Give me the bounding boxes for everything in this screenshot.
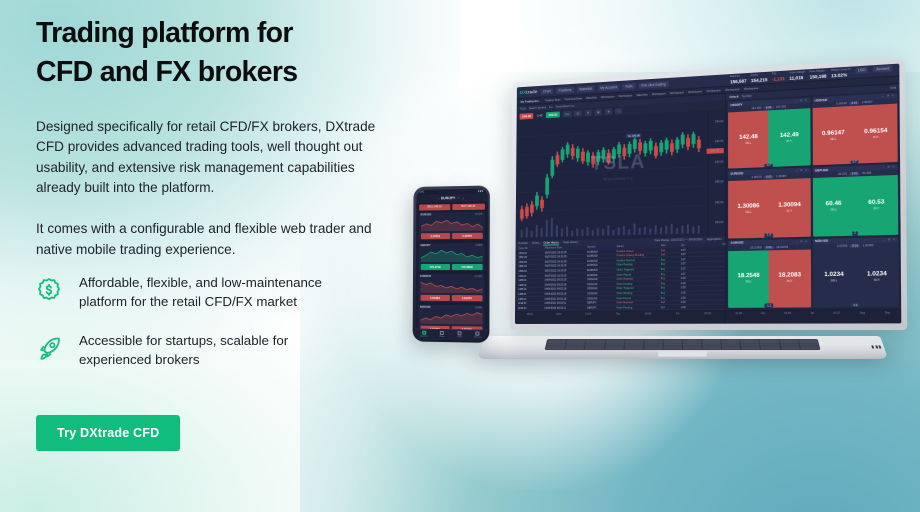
chart-symbol-chip[interactable]: TSLA (520, 107, 526, 110)
tile-ask-label: 0.96157 (862, 101, 873, 105)
list-item[interactable]: NZDUSD-0.04%0.612040.61219 (418, 304, 484, 329)
tile-prices: 18.2548SELL18.2083BUY1.2 (728, 249, 810, 308)
timeframe-button[interactable]: 1m (562, 110, 571, 116)
tile-prices: 1.30086SELL1.30094BUY1.0 (728, 178, 810, 238)
tile-buy-half[interactable]: 18.2083BUY (769, 249, 811, 307)
tile-bid-label: 1.30079 (751, 176, 761, 180)
tile-actions[interactable]: ⌄ ⚙ ✕ (883, 238, 896, 242)
tile-qty: 0.01 (764, 106, 774, 110)
trading-platform-screen: DXtrade Chart Positions Watchlist My Acc… (515, 64, 901, 324)
workspace-tab[interactable]: Workspace (688, 90, 702, 94)
card-quotes: 1.107311.10757 (420, 232, 482, 238)
workspace-tab[interactable]: Workspace (744, 86, 759, 90)
card-symbol: GBPJPY (420, 244, 430, 247)
feature-label: Affordable, flexible, and low-maintenanc… (79, 272, 362, 312)
status-time: 9:41 (420, 190, 425, 193)
laptop-mockup: DXtrade Chart Positions Watchlist My Acc… (485, 80, 880, 380)
metric-margin-level: Margin Level % 13.02% (831, 68, 851, 78)
phone-sell-button[interactable]: SELL 148.12 (419, 204, 451, 210)
tile-ask-label: 18.22036 (776, 245, 788, 248)
tab-portfolio[interactable]: Portfolio (519, 242, 528, 245)
laptop-lid: DXtrade Chart Positions Watchlist My Acc… (510, 58, 907, 330)
tile-actions[interactable]: ⌄ ⚙ ✕ (795, 99, 807, 103)
tile-spread: 1.0 (765, 233, 773, 237)
more-icon[interactable]: ⋮ (462, 195, 465, 199)
metric-balance: Balance 156,587 (730, 75, 746, 84)
card-buy-button[interactable]: 172.0802 (452, 263, 482, 269)
candlestick-series (516, 110, 725, 241)
workspace-tab[interactable]: Technical Rate (564, 97, 582, 101)
tile-sell-half[interactable]: 0.96147SELL (812, 106, 854, 166)
card-quotes: 1.613631.61375 (420, 294, 482, 301)
headline-line-2: CFD and FX brokers (36, 56, 297, 88)
watchlist-tab[interactable]: Default (729, 95, 738, 99)
sparkline-chart (421, 216, 483, 232)
hero-paragraph-2: It comes with a configurable and flexibl… (36, 219, 384, 260)
tile-ask-label: 1.02384 (863, 244, 874, 247)
card-quotes: 172.0742172.0802 (420, 263, 482, 269)
card-change: -0.08% (475, 244, 482, 246)
timeline-left-ticks: 08:00 Wed 12:00 Thu 18:00 Fri 00:30 (515, 312, 724, 316)
last-price-badge: 289.42 (706, 147, 723, 153)
hero-paragraph-1: Designed specifically for retail CFD/FX … (36, 117, 392, 200)
back-icon[interactable]: ‹ (438, 196, 439, 200)
device-mockup: DXtrade Chart Positions Watchlist My Acc… (390, 60, 920, 400)
platform-body: TSLA Search Symbol 1m Tesla Motors Inc 1… (515, 84, 901, 324)
account-menu[interactable]: My Account (598, 83, 620, 90)
workspace-tab[interactable]: Workspace (670, 91, 684, 95)
date-range-filter[interactable]: Date Range: 10/23/2021 — 06/15/2022 (655, 238, 703, 242)
tile-spread: 0.7 (850, 160, 859, 164)
phone-bottom-nav: Watchlist Charts Orders Account (415, 328, 487, 340)
status-indicators: ▮▮▮ (478, 189, 483, 192)
workspace-tab[interactable]: Watchlist (636, 93, 647, 97)
timeline-left: 08:00 Wed 12:00 Thu 18:00 Fri 00:30 (515, 311, 725, 324)
price-axis: 294.00 292.00 290.00 288.00 286.00 284.0… (708, 110, 725, 237)
tile-ask-label: 1.30084 (776, 175, 786, 179)
quote-tile[interactable]: EURUSD⌄ ⚙ ✕1.300790.011.300841.30086SELL… (728, 168, 810, 238)
sparkline-chart (420, 247, 482, 262)
try-dxtrade-cfd-button[interactable]: Try DXtrade CFD (36, 415, 180, 451)
aggregation-toggle[interactable]: Aggregation (707, 238, 722, 241)
watchlist-grid-toggle[interactable]: Grid (890, 86, 896, 90)
cta-label: Try DXtrade CFD (57, 426, 159, 440)
phone-nav-account[interactable]: Account (469, 331, 487, 338)
tile-sell-half[interactable]: 1.0234SELL (813, 248, 856, 307)
laptop-keyboard (545, 339, 820, 350)
workspace-tab[interactable]: Workspace (619, 94, 633, 98)
candlestick-chart[interactable]: TSLA Tesla Motors Inc SL 289.86 294.00 2… (516, 110, 725, 241)
orders-table-body: 1536.2206/07/2022 16:31:05EURUSDPosition… (515, 247, 725, 311)
rocket-icon (32, 332, 66, 366)
sparkline-chart (420, 278, 482, 293)
tile-spread: 2 (852, 231, 858, 235)
tile-bid-label: 60.201 (838, 173, 847, 177)
chart-search[interactable]: Search Symbol (529, 106, 546, 110)
nav-chip-positions[interactable]: Positions (556, 86, 574, 93)
tile-spread: 1.2 (765, 304, 773, 308)
chart-timeline: 08:00 Wed 12:00 Thu 18:00 Fri 00:30 (515, 310, 725, 324)
metric-used-margin: Used Margin 11,015 (789, 71, 805, 81)
tile-ask-label: 60.486 (862, 172, 871, 176)
quote-tile[interactable]: NZDUSD⌄ ⚙ ✕1.023060.011.023841.0234SELL1… (813, 237, 899, 308)
tile-actions[interactable]: ⌄ ⚙ ✕ (795, 169, 807, 173)
account-selector[interactable]: Account (873, 66, 892, 74)
tile-prices: 0.96147SELL0.96154BUY0.7 (812, 104, 898, 166)
watchlist-panel: Default Symbol Grid USDJPY⌄ ⚙ ✕141.4800.… (726, 84, 901, 324)
tile-actions[interactable]: ⌄ ⚙ ✕ (882, 94, 895, 98)
chart-icon (440, 331, 444, 335)
quote-tile[interactable]: GBPUSD⌄ ⚙ ✕60.2010.0160.48660.46SELL60.5… (812, 164, 898, 236)
tile-spread: 0.7 (765, 163, 773, 167)
watchlist-search[interactable]: Symbol (742, 94, 752, 98)
tab-trade-history[interactable]: Trade History (563, 241, 579, 244)
gear-dollar-icon (32, 274, 66, 308)
dxtrade-logo: DXtrade (520, 89, 538, 95)
card-change: +0.12% (475, 213, 483, 215)
chart-timeframe[interactable]: 1m (549, 105, 553, 108)
drawing-icon[interactable]: ✎ (584, 109, 592, 115)
tab-order-history[interactable]: Order History (543, 241, 558, 245)
tile-sell-half[interactable]: 18.2548SELL (728, 250, 769, 308)
list-item[interactable]: EURAUD+0.31%1.613631.61375 (418, 273, 484, 302)
tile-buy-half[interactable]: 0.96154BUY (854, 104, 897, 164)
card-sell-button[interactable]: 1.10731 (420, 233, 450, 239)
page-title: Trading platform for CFD and FX brokers (36, 14, 416, 92)
hero-copy: Trading platform for CFD and FX brokers … (36, 14, 416, 260)
watchlist-timeline: 11:06 Jun 15:38 Jul 10:27 Aug Sep (726, 309, 901, 324)
tile-qty: 0.01 (764, 176, 774, 180)
tab-orders[interactable]: Orders (532, 242, 540, 245)
tile-prices: 142.48SELL142.49BUY0.7 (728, 108, 810, 169)
indicators-icon[interactable]: ◫ (574, 110, 582, 116)
card-symbol: NZDUSD (420, 306, 431, 309)
crosshair-icon[interactable]: ✛ (605, 108, 613, 114)
watchlist-icon (422, 331, 426, 335)
nav-chip-chart[interactable]: Chart (540, 88, 553, 95)
workspace-tab[interactable]: My Trading Acc... (521, 99, 541, 103)
one-click-trading-toggle[interactable]: One click trading (638, 80, 668, 88)
card-buy-button[interactable]: 1.10757 (452, 232, 482, 238)
feature-label: Accessible for startups, scalable for ex… (79, 330, 362, 370)
tile-sell-half[interactable]: 60.46SELL (812, 177, 855, 236)
star-icon[interactable]: ☆ (457, 196, 459, 200)
card-buy-button[interactable]: 1.61375 (452, 295, 482, 301)
phone-nav-orders[interactable]: Orders (451, 331, 469, 338)
timeline-right: 11:06 Jun 15:38 Jul 10:27 Aug Sep (726, 310, 901, 323)
workspace-tab[interactable]: Workspace (652, 92, 666, 96)
tile-qty: 0.01 (849, 101, 859, 105)
tile-prices: 1.0234SELL1.0234BUY0.9 (813, 247, 899, 307)
settings-icon[interactable]: ⚙ (594, 109, 602, 115)
card-sell-button[interactable]: 1.61363 (420, 294, 450, 300)
workspace-tab[interactable]: Workspace (601, 95, 615, 99)
card-change: +0.31% (474, 276, 482, 278)
phone-nav-watchlist[interactable]: Watchlist (415, 331, 433, 338)
card-sell-button[interactable]: 172.0742 (420, 264, 450, 270)
feature-list: Affordable, flexible, and low-maintenanc… (32, 272, 362, 388)
laptop-base (477, 336, 889, 359)
chart-company: Tesla Motors Inc (556, 104, 575, 108)
tile-buy-half[interactable]: 60.53BUY (855, 175, 899, 235)
tile-sell-half[interactable]: 142.48SELL (728, 110, 769, 169)
tile-prices: 60.46SELL60.53BUY2 (812, 175, 898, 236)
phone-buy-button[interactable]: BUY 148.15 (452, 203, 484, 209)
card-change: -0.04% (475, 307, 482, 309)
tile-actions[interactable]: ⌄ ⚙ ✕ (796, 240, 808, 243)
tile-qty: 0.01 (764, 246, 774, 249)
quote-tile[interactable]: USDCHF⌄ ⚙ ✕0.961460.010.961570.96147SELL… (812, 93, 898, 166)
watchlist-tiles: USDJPY⌄ ⚙ ✕141.4800.01141.501142.48SELL1… (726, 91, 901, 310)
laptop-ports (871, 345, 881, 348)
feature-item: Affordable, flexible, and low-maintenanc… (32, 272, 362, 312)
buy-button[interactable]: 159.31 (546, 111, 560, 118)
phone-watchlist: EURUSD+0.12%1.107311.10757GBPJPY-0.08%17… (415, 211, 487, 329)
timeline-right-ticks: 11:06 Jun 15:38 Jul 10:27 Aug Sep (726, 311, 900, 315)
tile-qty: 0.01 (850, 244, 860, 247)
tile-buy-half[interactable]: 1.30094BUY (769, 178, 811, 237)
tile-bid-label: 141.480 (751, 107, 761, 111)
currency-selector[interactable]: USD (855, 67, 868, 74)
nav-chip-watchlist[interactable]: Watchlist (577, 85, 595, 92)
workspace-tab[interactable]: Watchlist (586, 96, 597, 100)
metric-free-margin: Free Margin 150,198 (810, 70, 827, 80)
feature-item: Accessible for startups, scalable for ex… (32, 330, 362, 370)
spread-value: 0.45 (536, 113, 544, 117)
quote-tile[interactable]: AUDUSD⌄ ⚙ ✕18.219500.0118.2203618.2548SE… (728, 238, 810, 307)
tile-bid-label: 0.96146 (836, 102, 847, 106)
phone-symbol: EUR/JPY (441, 196, 455, 200)
sparkline-chart (420, 309, 482, 325)
tile-bid-label: 1.02306 (837, 244, 848, 247)
list-item[interactable]: EURUSD+0.12%1.107311.10757 (419, 211, 485, 240)
workspace-tab[interactable]: Workspace (707, 89, 721, 93)
metric-pnl: P&L -1,131 (772, 72, 785, 81)
card-symbol: EURAUD (420, 275, 431, 278)
tile-spread: 0.9 (851, 303, 860, 307)
card-symbol: EURUSD (421, 213, 432, 216)
workspace-tab[interactable]: Trading Tools (545, 98, 561, 102)
laptop-trackpad (658, 351, 707, 356)
quote-tile[interactable]: USDJPY⌄ ⚙ ✕141.4800.01141.501142.48SELL1… (728, 98, 810, 169)
orders-icon (458, 331, 462, 335)
tile-ask-label: 141.501 (776, 105, 786, 109)
phone-nav-charts[interactable]: Charts (433, 331, 451, 338)
tools-menu[interactable]: Tools (623, 83, 636, 90)
sell-button[interactable]: 159.23 (520, 112, 534, 119)
account-icon (476, 332, 480, 336)
headline-line-1: Trading platform for (36, 17, 293, 49)
phone-screen: 9:41 ▮▮▮ ‹ EUR/JPY ☆ ⋮ SELL 148.12 BUY 1… (415, 188, 487, 340)
metric-equity: Equity 154,215 (751, 73, 768, 82)
orders-panel: Portfolio Orders Order History Trade His… (515, 236, 725, 311)
tile-buy-half[interactable]: 1.0234BUY (855, 247, 899, 307)
chart-panel: TSLA Search Symbol 1m Tesla Motors Inc 1… (515, 94, 726, 324)
tile-sell-half[interactable]: 1.30086SELL (728, 180, 769, 238)
tile-buy-half[interactable]: 142.49BUY (769, 108, 810, 167)
list-item[interactable]: GBPJPY-0.08%172.0742172.0802 (418, 242, 484, 271)
tile-bid-label: 18.21950 (750, 246, 762, 249)
tile-qty: 0.01 (849, 172, 859, 176)
phone-notch (437, 188, 466, 193)
tile-actions[interactable]: ⌄ ⚙ ✕ (882, 166, 895, 170)
phone-mockup: 9:41 ▮▮▮ ‹ EUR/JPY ☆ ⋮ SELL 148.12 BUY 1… (413, 185, 490, 342)
fullscreen-icon[interactable]: ⛶ (615, 108, 622, 114)
workspace-tab[interactable]: Workspace (725, 88, 739, 92)
